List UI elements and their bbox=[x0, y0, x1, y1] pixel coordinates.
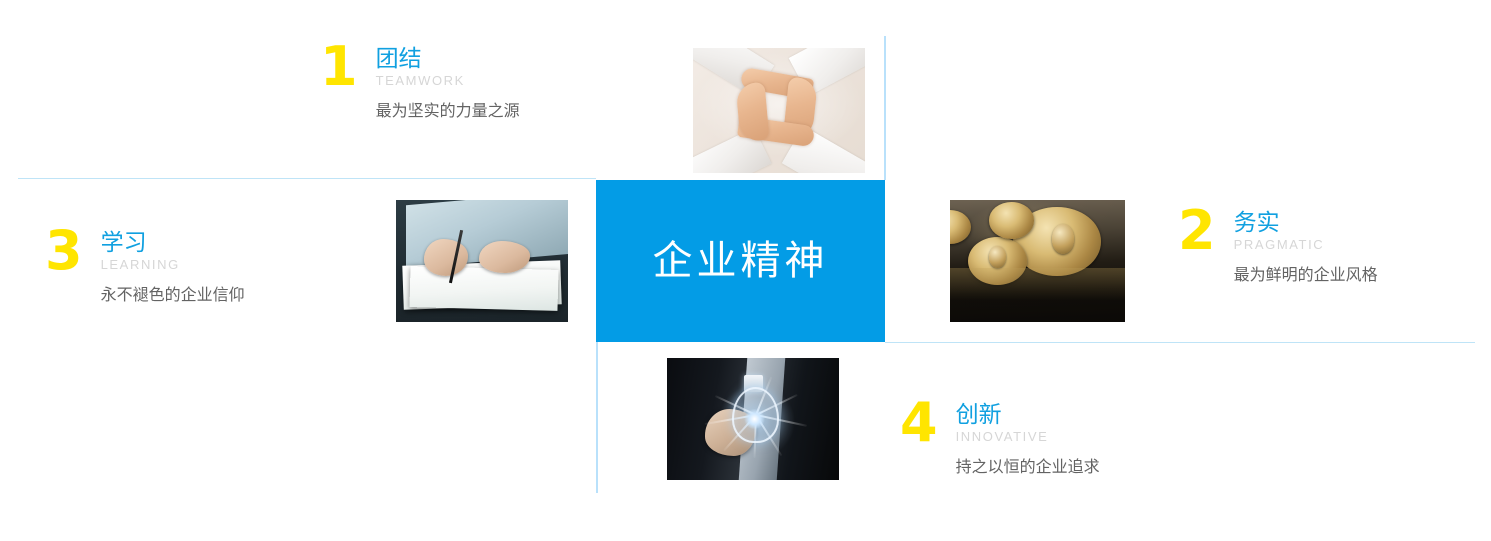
gear-reflection bbox=[950, 268, 1125, 322]
item-title-en: PRAGMATIC bbox=[1234, 235, 1378, 255]
item-copy: 务实 PRAGMATIC 最为鲜明的企业风格 bbox=[1234, 210, 1378, 287]
center-title-block: 企业精神 bbox=[596, 180, 885, 342]
divider-bottom-vertical bbox=[596, 342, 598, 493]
bulb-filament-glow bbox=[744, 409, 765, 429]
item-learning: 3 学习 LEARNING 永不褪色的企业信仰 bbox=[45, 228, 245, 307]
item-number: 2 bbox=[1178, 208, 1216, 254]
item-pragmatic: 2 务实 PRAGMATIC 最为鲜明的企业风格 bbox=[1178, 208, 1378, 287]
item-description: 永不褪色的企业信仰 bbox=[101, 285, 245, 307]
item-teamwork: 1 团结 TEAMWORK 最为坚实的力量之源 bbox=[320, 44, 520, 123]
learning-photo-scene bbox=[396, 200, 568, 322]
item-number: 1 bbox=[320, 44, 358, 90]
divider-top-vertical bbox=[884, 36, 886, 180]
gears-photo-scene bbox=[950, 200, 1125, 322]
item-number: 3 bbox=[45, 228, 83, 274]
item-copy: 创新 INNOVATIVE 持之以恒的企业追求 bbox=[956, 402, 1100, 479]
item-description: 持之以恒的企业追求 bbox=[956, 457, 1100, 479]
item-title-cn: 创新 bbox=[956, 402, 1100, 427]
item-copy: 团结 TEAMWORK 最为坚实的力量之源 bbox=[376, 46, 520, 123]
item-copy: 学习 LEARNING 永不褪色的企业信仰 bbox=[101, 230, 245, 307]
gear-hub-small bbox=[989, 246, 1007, 268]
divider-left-horizontal bbox=[18, 178, 596, 179]
lightbulb-photo bbox=[667, 358, 839, 480]
item-description: 最为坚实的力量之源 bbox=[376, 101, 520, 123]
item-number: 4 bbox=[900, 400, 938, 446]
gears-photo bbox=[950, 200, 1125, 322]
writing-hand bbox=[424, 239, 469, 276]
gear-small bbox=[989, 202, 1035, 239]
gear-edge bbox=[950, 210, 971, 244]
item-title-en: LEARNING bbox=[101, 255, 245, 275]
teamwork-photo bbox=[693, 48, 865, 173]
learning-photo bbox=[396, 200, 568, 322]
item-innovative: 4 创新 INNOVATIVE 持之以恒的企业追求 bbox=[900, 400, 1100, 479]
item-title-en: TEAMWORK bbox=[376, 71, 520, 91]
item-title-cn: 务实 bbox=[1234, 210, 1378, 235]
paper-sheet-front bbox=[409, 266, 558, 311]
item-title-cn: 团结 bbox=[376, 46, 520, 71]
item-title-cn: 学习 bbox=[101, 230, 245, 255]
divider-right-horizontal bbox=[885, 342, 1475, 343]
center-title-text: 企业精神 bbox=[653, 241, 829, 281]
item-description: 最为鲜明的企业风格 bbox=[1234, 265, 1378, 287]
item-title-en: INNOVATIVE bbox=[956, 427, 1100, 447]
teamwork-photo-scene bbox=[693, 48, 865, 173]
lightbulb-photo-scene bbox=[667, 358, 839, 480]
gear-hub-large bbox=[1052, 224, 1075, 253]
corporate-spirit-infographic: 企业精神 1 团结 TEAMWORK 最为坚实的力量之源 2 务实 PRAGMA… bbox=[0, 0, 1491, 541]
